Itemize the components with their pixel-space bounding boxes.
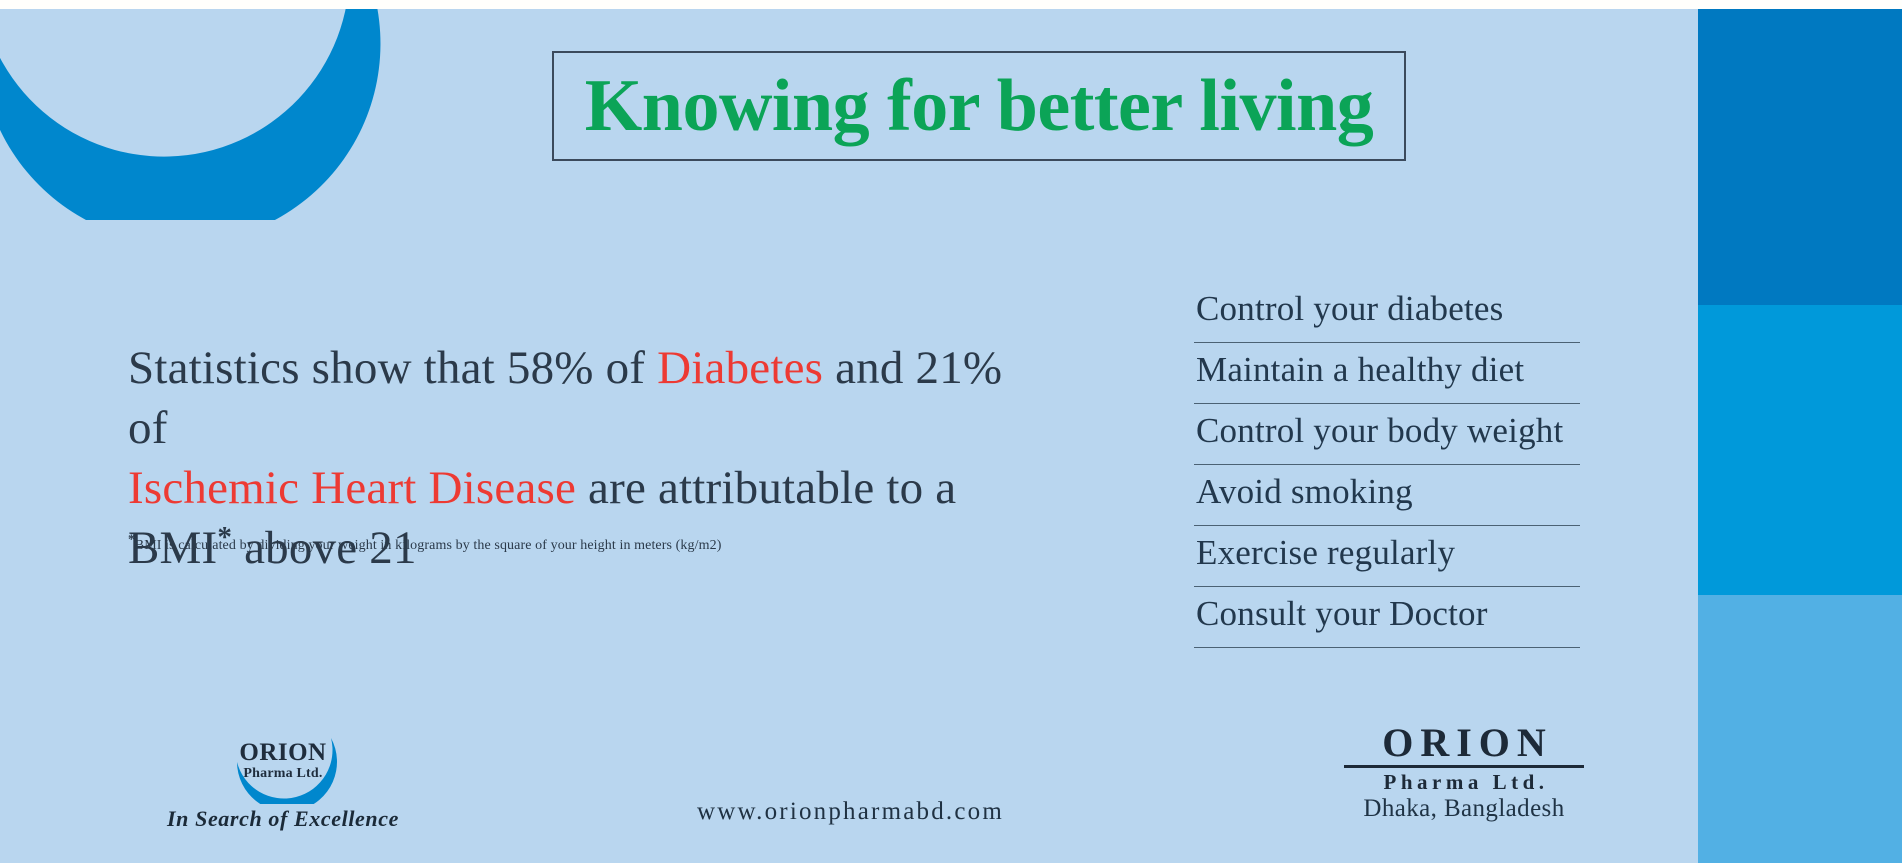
footnote-text: BMI is calculated by dividing your weigh…	[135, 538, 722, 553]
orion-logo-left: ORION Pharma Ltd. In Search of Excellenc…	[138, 712, 428, 837]
orion-logo-right: ORION Pharma Ltd. Dhaka, Bangladesh	[1344, 722, 1584, 824]
orion-logo-left-name: ORION	[138, 740, 428, 766]
edge-bar-dark-blue	[1698, 9, 1902, 305]
orion-logo-right-name: ORION	[1344, 722, 1584, 764]
advice-item-control-diabetes: Control your diabetes	[1194, 282, 1580, 343]
statistics-line-2: Ischemic Heart Disease are attributable …	[128, 458, 1033, 518]
footnote-star: *	[128, 531, 135, 546]
stat-highlight-ihd: Ischemic Heart Disease	[128, 462, 576, 514]
bmi-footnote: *BMI is calculated by dividing your weig…	[128, 538, 888, 554]
advice-item-consult-doctor: Consult your Doctor	[1194, 587, 1580, 648]
orion-logo-left-subtitle: Pharma Ltd.	[138, 766, 428, 782]
orion-logo-left-wordmark: ORION Pharma Ltd.	[138, 740, 428, 782]
orion-logo-right-subtitle: Pharma Ltd.	[1344, 770, 1584, 794]
advice-item-healthy-diet: Maintain a healthy diet	[1194, 343, 1580, 404]
advice-item-avoid-smoking: Avoid smoking	[1194, 465, 1580, 526]
advice-list: Control your diabetes Maintain a healthy…	[1194, 282, 1580, 648]
orion-logo-right-city: Dhaka, Bangladesh	[1344, 794, 1584, 824]
top-white-strip	[0, 0, 1902, 9]
website-url[interactable]: www.orionpharmabd.com	[697, 798, 1004, 826]
advice-item-exercise: Exercise regularly	[1194, 526, 1580, 587]
page-title: Knowing for better living	[585, 69, 1374, 143]
stat-line2-post: are attributable to a	[576, 462, 956, 514]
orion-logo-right-divider	[1344, 765, 1584, 768]
advice-item-body-weight: Control your body weight	[1194, 404, 1580, 465]
edge-bar-light-blue	[1698, 595, 1902, 863]
stat-line1-pre: Statistics show that 58% of	[128, 342, 657, 394]
poster-canvas: Knowing for better living Statistics sho…	[0, 0, 1902, 863]
edge-bar-medium-blue	[1698, 305, 1902, 595]
edge-color-bars	[1698, 9, 1902, 863]
orion-tagline: In Search of Excellence	[138, 806, 428, 832]
stat-highlight-diabetes: Diabetes	[657, 342, 823, 394]
statistics-line-1: Statistics show that 58% of Diabetes and…	[128, 338, 1033, 458]
headline-box: Knowing for better living	[552, 51, 1406, 161]
